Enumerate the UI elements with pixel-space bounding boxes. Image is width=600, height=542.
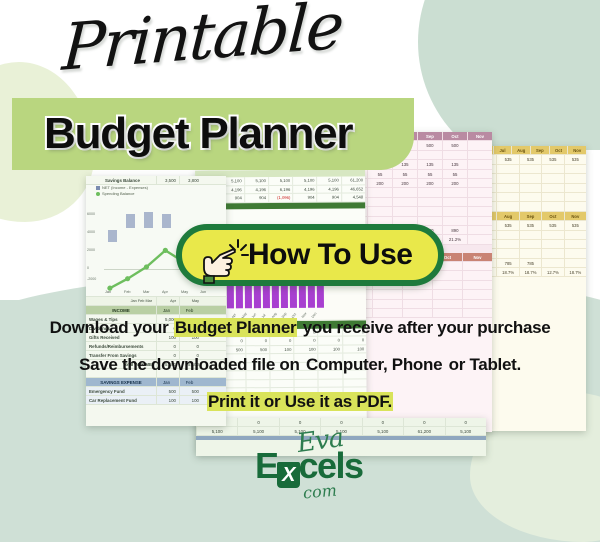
cell: 100 [342, 345, 366, 353]
cell: 3,500 [156, 176, 179, 184]
column-header: Nov [462, 253, 492, 261]
cell [245, 380, 269, 388]
axis-tick-label: 6000 [87, 212, 95, 216]
axis-tick-label: Jun [200, 290, 206, 294]
cell [541, 165, 563, 173]
cell [342, 379, 366, 387]
cell: 904 [292, 194, 316, 202]
cell: 61,200 [341, 176, 365, 184]
cell: 535 [541, 155, 563, 163]
axis-tick-label: 2000 [87, 248, 95, 252]
excel-x-badge-icon: X [277, 462, 300, 488]
cell [294, 379, 318, 387]
cell [467, 141, 492, 149]
cell [519, 231, 541, 239]
cell [467, 198, 492, 206]
cell [318, 379, 342, 387]
column-header: Jul [493, 146, 512, 154]
cell [519, 249, 541, 257]
logo-text-cels: cels [299, 445, 363, 486]
axis-tick-label: 0 [87, 266, 89, 270]
cell: 535 [496, 221, 518, 229]
cell [402, 300, 432, 308]
cell: 0 [269, 337, 293, 345]
month-strip: Jan Feb Mar Apr May [86, 297, 226, 306]
cell [462, 300, 492, 308]
cell: 0 [445, 418, 486, 426]
cell: 6,196 [268, 185, 292, 193]
month-label: Mar [145, 299, 152, 303]
column-header: Feb [179, 378, 202, 386]
cell [541, 174, 563, 182]
legend-swatch-net [96, 186, 100, 190]
column-header: Nov [567, 146, 586, 154]
axis-tick-label: Jan [105, 290, 111, 294]
cell [467, 188, 492, 196]
axis-tick-label: May [181, 290, 188, 294]
cell [367, 198, 392, 206]
column-header: Sep [530, 146, 549, 154]
text-segment: you receive after your purchase [297, 318, 551, 337]
cell [564, 231, 586, 239]
column-header: Aug [496, 212, 518, 220]
cell: 5,100 [292, 177, 316, 185]
column-header: Oct [442, 132, 467, 140]
cell [467, 151, 492, 159]
axis-tick-label: Feb [124, 290, 131, 294]
cell [564, 184, 586, 192]
text-highlight: Print it or Use it as PDF. [207, 392, 393, 411]
cell [432, 300, 462, 308]
month-label: May [179, 297, 202, 305]
cell: 890 [442, 226, 467, 234]
cell [541, 259, 563, 267]
cell [402, 309, 432, 317]
column-header: Oct [541, 212, 563, 220]
cell: 100 [293, 345, 317, 353]
cell [467, 160, 492, 168]
cell [417, 188, 442, 196]
cell [541, 193, 563, 201]
cell: 0 [279, 418, 320, 426]
cell [496, 165, 518, 173]
cell [442, 188, 467, 196]
cell: 55 [417, 170, 442, 178]
cell [392, 207, 417, 215]
column-header: Oct [549, 146, 568, 154]
cell [372, 309, 402, 317]
cell [467, 179, 492, 187]
cell: 904 [244, 194, 268, 202]
cell: 100 [269, 345, 293, 353]
cell [564, 174, 586, 182]
cell [462, 290, 492, 298]
cell: 0 [237, 418, 278, 426]
cell [519, 193, 541, 201]
cell [564, 259, 586, 267]
cell: 55 [392, 170, 417, 178]
cell [519, 174, 541, 182]
cell [467, 235, 492, 243]
cell: 0 [245, 337, 269, 345]
text-segment: Save the downloaded file on [78, 355, 305, 374]
cell [496, 249, 518, 257]
cell [496, 193, 518, 201]
cell: 535 [496, 155, 518, 163]
cell: 500 [442, 141, 467, 149]
cell [519, 184, 541, 192]
cell [432, 281, 462, 289]
cell [541, 202, 563, 210]
cell [467, 170, 492, 178]
cell: 785 [496, 259, 518, 267]
cell [467, 207, 492, 215]
cell [372, 290, 402, 298]
brand-logo[interactable]: Eva EXcels com [255, 430, 415, 500]
cell [462, 271, 492, 279]
how-to-use-button[interactable]: How To Use [176, 224, 444, 286]
cell: 3,800 [179, 176, 202, 184]
cell [519, 202, 541, 210]
cell [496, 202, 518, 210]
column-header: Nov [564, 212, 586, 220]
chart-legend: NET (Income - Expenses) Spending Balance [86, 185, 226, 197]
cell [496, 231, 518, 239]
cell: 4,196 [244, 186, 268, 194]
cell [496, 184, 518, 192]
cell: 0 [362, 418, 403, 426]
cell: 5,100 [268, 177, 292, 185]
cell: 0 [179, 342, 202, 350]
cell: 0 [403, 418, 444, 426]
cell [462, 281, 492, 289]
instruction-line-1: Download your Budget Planner you receive… [0, 318, 600, 338]
cell [519, 240, 541, 248]
page-title: Budget Planner [44, 106, 424, 162]
legend-swatch-balance [96, 192, 100, 196]
cell [519, 165, 541, 173]
axis-tick-label: 4000 [87, 230, 95, 234]
text-segment: Computer, Phone [305, 355, 443, 374]
cell: 904 [317, 194, 341, 202]
cell: 200 [417, 179, 442, 187]
cell: 18.7% [564, 268, 586, 276]
cell [496, 240, 518, 248]
column-header: Jan [156, 378, 179, 386]
cell: 535 [519, 221, 541, 229]
cell [392, 198, 417, 206]
cell [432, 309, 462, 317]
cell: 12.7% [541, 268, 563, 276]
cell: 55 [442, 170, 467, 178]
instruction-line-3: Print it or Use it as PDF. [0, 392, 600, 412]
cell [417, 217, 442, 225]
month-label: Apr [156, 297, 179, 305]
cell: 0 [156, 342, 179, 350]
cell: 535 [564, 155, 586, 163]
cell [269, 379, 293, 387]
text-segment: or Tablet. [443, 355, 522, 374]
column-header: Sep [519, 212, 541, 220]
text-segment: Download your [49, 318, 174, 337]
cell: 46,652 [341, 185, 365, 193]
cell: 18.7% [519, 268, 541, 276]
cell [367, 188, 392, 196]
cell [417, 207, 442, 215]
cell [442, 151, 467, 159]
income-section-header: INCOME Jan Feb [86, 306, 226, 315]
cell [372, 300, 402, 308]
instruction-line-2: Save the downloaded file on Computer, Ph… [0, 355, 600, 375]
cell [541, 240, 563, 248]
column-header: Nov [467, 132, 492, 140]
cell: 535 [541, 221, 563, 229]
section-title: INCOME [86, 306, 156, 314]
cell: 535 [564, 221, 586, 229]
logo-script-com: com [302, 481, 337, 503]
logo-letter-e: E [255, 445, 278, 486]
cell: 200 [367, 179, 392, 187]
cell: 100 [318, 345, 342, 353]
cell: 18.7% [496, 268, 518, 276]
cell: 500 [245, 346, 269, 354]
cell [541, 184, 563, 192]
cell [462, 309, 492, 317]
cell: 55 [367, 170, 392, 178]
section-title: SAVINGS EXPENSE [86, 378, 156, 386]
month-label: Jan [131, 299, 137, 303]
cell [564, 193, 586, 201]
axis-tick-label: Apr [162, 290, 168, 294]
row-label: Refunds/Reimbursements [86, 342, 156, 350]
cell: 535 [519, 155, 541, 163]
cell: 5,100 [196, 427, 237, 435]
cell [541, 249, 563, 257]
cell: 135 [442, 160, 467, 168]
cell [496, 174, 518, 182]
cell [442, 217, 467, 225]
axis-tick-label: -2000 [87, 277, 96, 281]
cell [442, 198, 467, 206]
cell [564, 165, 586, 173]
sheet-left-budget: Savings Balance 3,500 3,800 NET (Income … [86, 176, 226, 426]
cell [541, 231, 563, 239]
cell: 4,196 [317, 185, 341, 193]
table-row: Refunds/Reimbursements 0 0 [86, 342, 226, 351]
text-highlight: Budget Planner [174, 318, 297, 337]
legend-label-net: NET (Income - Expenses) [102, 185, 148, 190]
cell [467, 217, 492, 225]
cell [442, 207, 467, 215]
savings-section-header: SAVINGS EXPENSE Jan Feb [86, 378, 226, 387]
cell: 200 [392, 179, 417, 187]
cell [564, 249, 586, 257]
cell [462, 262, 492, 270]
column-header: Aug [511, 146, 530, 154]
column-header: Jan [156, 306, 179, 314]
cell: 200 [442, 179, 467, 187]
cell: 4,548 [341, 193, 365, 201]
cell: 5,100 [445, 427, 486, 435]
cell: 5,100 [244, 177, 268, 185]
pointing-hand-icon [194, 236, 252, 286]
legend-label-balance: Spending Balance [102, 191, 134, 196]
cell [392, 188, 417, 196]
cell: 5,100 [316, 177, 340, 185]
cell [467, 226, 492, 234]
cell [367, 207, 392, 215]
row-label: Savings Balance [86, 176, 156, 184]
cell [564, 202, 586, 210]
axis-tick-label: Mar [143, 290, 150, 294]
column-header: Feb [179, 306, 202, 314]
cell: 4,196 [292, 185, 316, 193]
cell: 785 [519, 259, 541, 267]
how-to-use-label: How To Use [248, 240, 412, 270]
cell [432, 290, 462, 298]
month-label: Feb [138, 299, 145, 303]
cell [564, 240, 586, 248]
table-row: Savings Balance 3,500 3,800 [86, 176, 226, 185]
cell [402, 290, 432, 298]
cell: 21.2% [442, 235, 467, 243]
cell-negative: (1,096) [268, 194, 292, 202]
cell [417, 198, 442, 206]
